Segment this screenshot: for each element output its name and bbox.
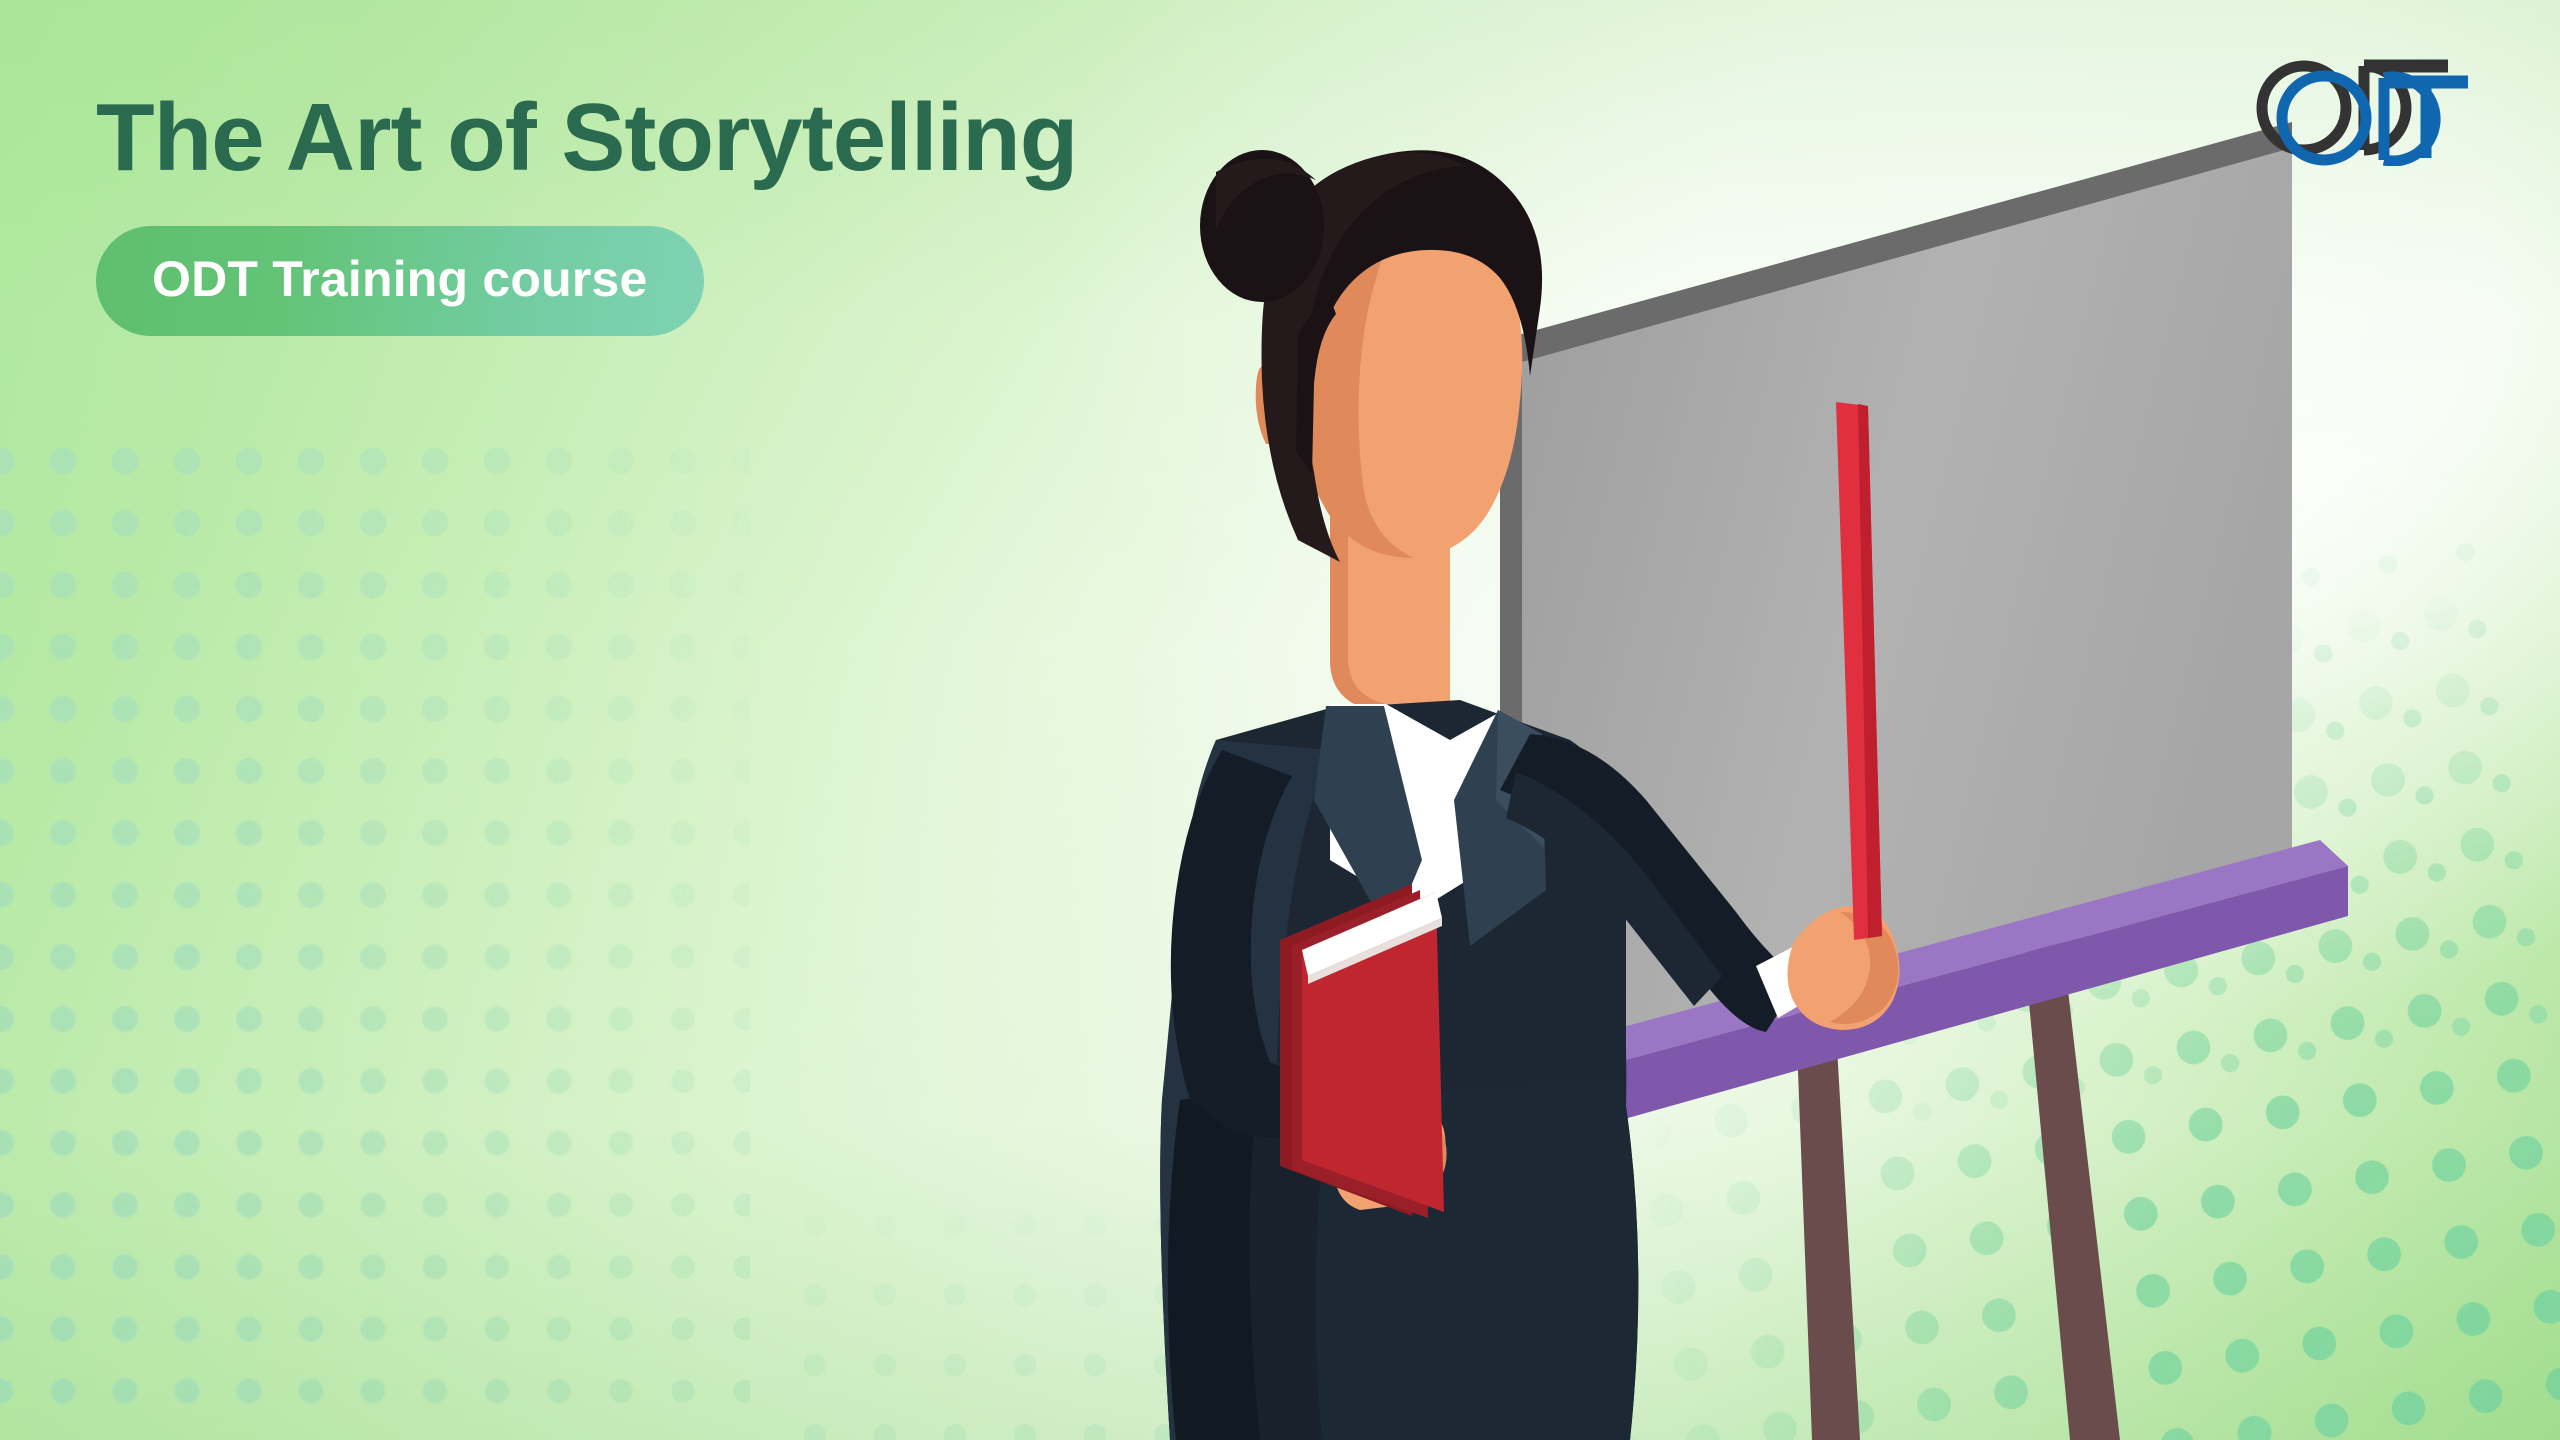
head [1200, 150, 1542, 562]
skirt-shadow [1168, 1090, 1260, 1440]
odt-logo[interactable] [2252, 36, 2482, 166]
page-title: The Art of Storytelling [96, 84, 1196, 192]
promo-banner: The Art of Storytelling ODT Training cou… [0, 0, 2560, 1440]
book [1280, 884, 1444, 1218]
course-badge: ODT Training course [96, 226, 704, 336]
text-block: The Art of Storytelling ODT Training cou… [96, 84, 1196, 336]
presenter-illustration [1030, 100, 2390, 1440]
